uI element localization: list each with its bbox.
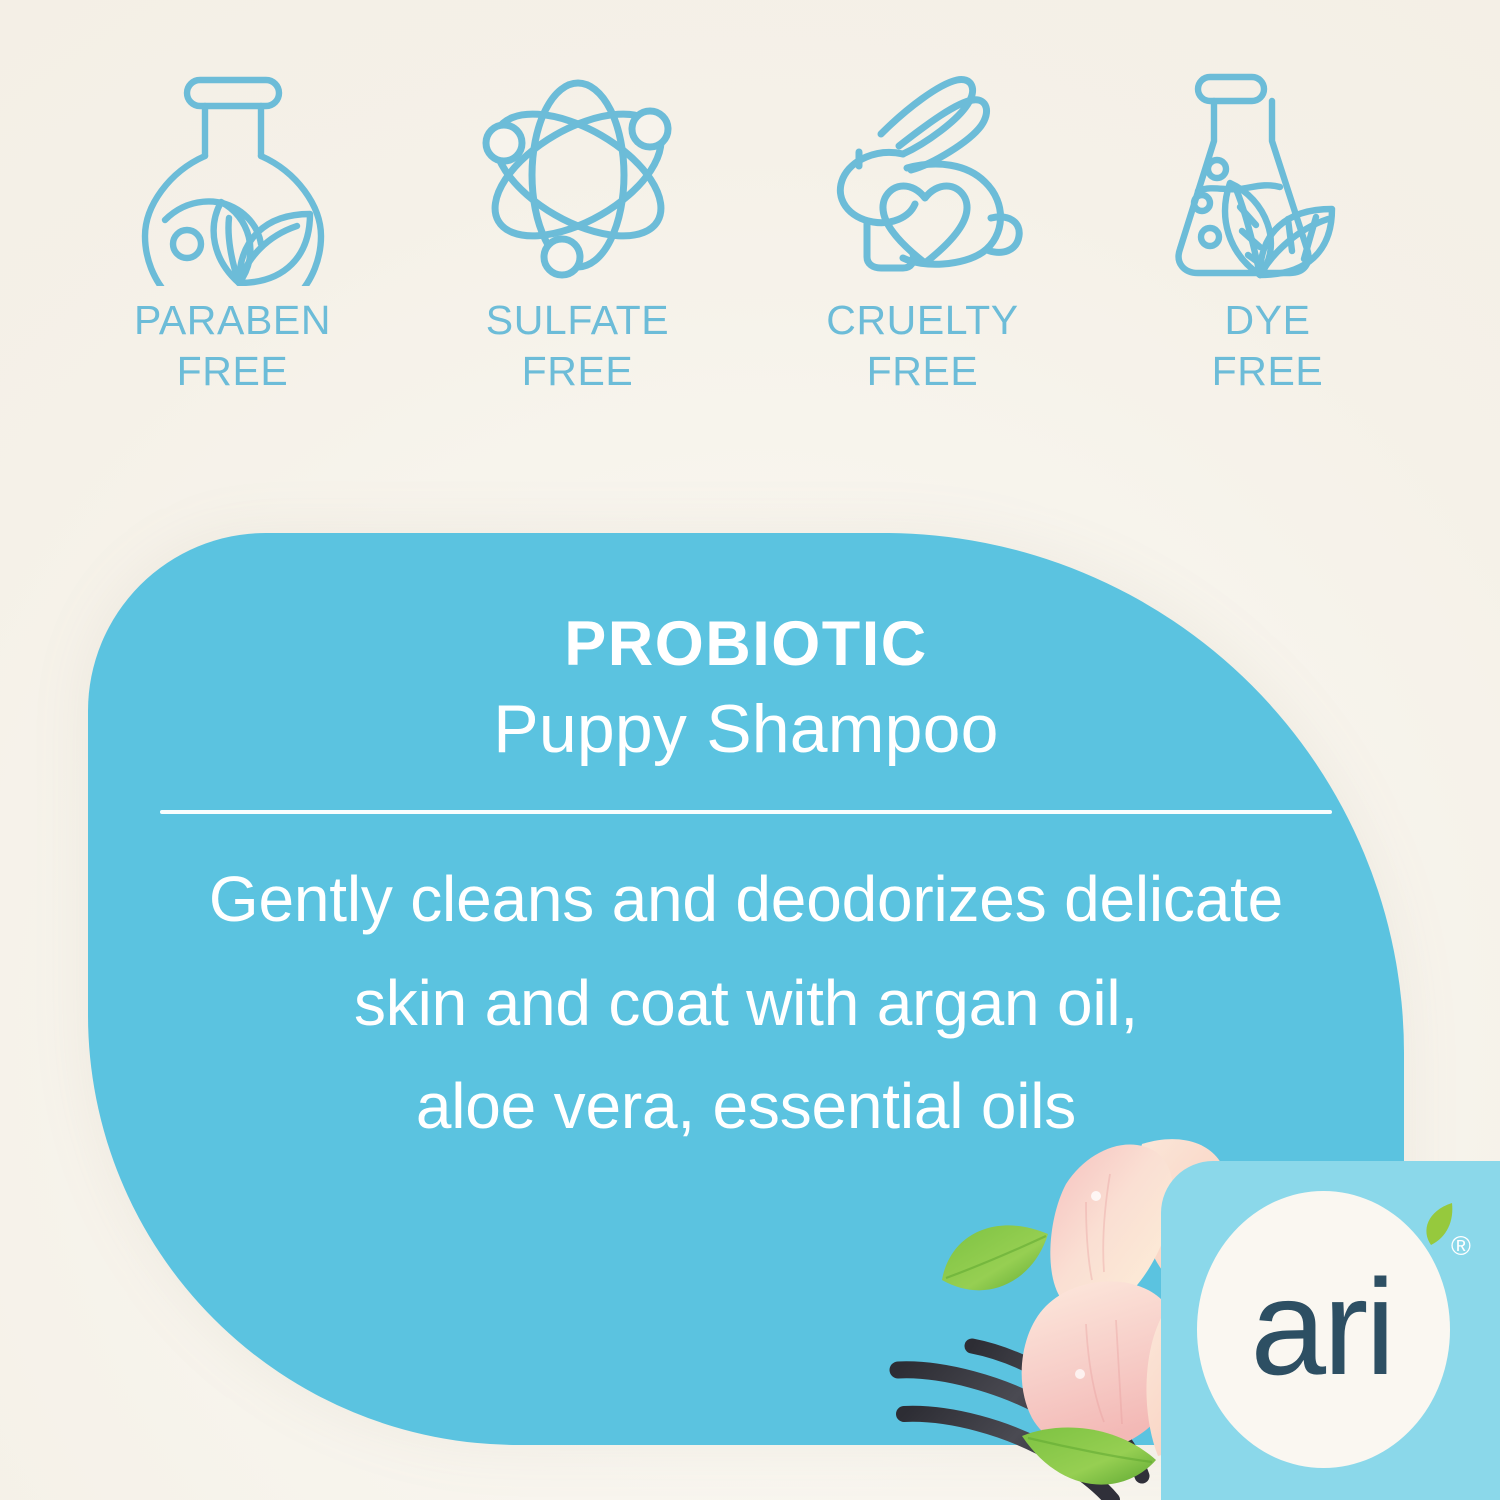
- registered-trademark-symbol: ®: [1451, 1233, 1471, 1260]
- badge-dye-free: DYE FREE: [1095, 62, 1440, 398]
- badge-cruelty-free: CRUELTY FREE: [750, 62, 1095, 398]
- badge-sulfate-free: SULFATE FREE: [405, 62, 750, 398]
- badge-dye-free-label: DYE FREE: [1212, 295, 1324, 398]
- bunny-heart-icon: [815, 62, 1031, 287]
- badge-paraben-free-label: PARABEN FREE: [134, 295, 331, 398]
- product-description: Gently cleans and deodorizes delicate sk…: [131, 848, 1361, 1159]
- claims-badge-row: PARABEN FREE SULFATE FREE: [0, 62, 1500, 432]
- badge-sulfate-free-label: SULFATE FREE: [486, 295, 669, 398]
- brand-logo-disc: ari: [1197, 1191, 1450, 1468]
- brand-logo-tile[interactable]: ari ®: [1161, 1161, 1500, 1500]
- panel-divider: [160, 810, 1332, 814]
- badge-paraben-free: PARABEN FREE: [60, 62, 405, 398]
- flask-leaf-icon: [135, 62, 331, 287]
- erlenmeyer-leaf-icon: [1170, 62, 1366, 287]
- badge-cruelty-free-label: CRUELTY FREE: [826, 295, 1019, 398]
- leaf-icon: [1421, 1201, 1454, 1247]
- brand-wordmark: ari: [1250, 1259, 1392, 1395]
- product-title: Puppy Shampoo: [493, 687, 998, 772]
- product-feature-canvas: PARABEN FREE SULFATE FREE: [0, 0, 1500, 1500]
- product-kicker: PROBIOTIC: [564, 611, 928, 677]
- atom-icon: [470, 62, 686, 287]
